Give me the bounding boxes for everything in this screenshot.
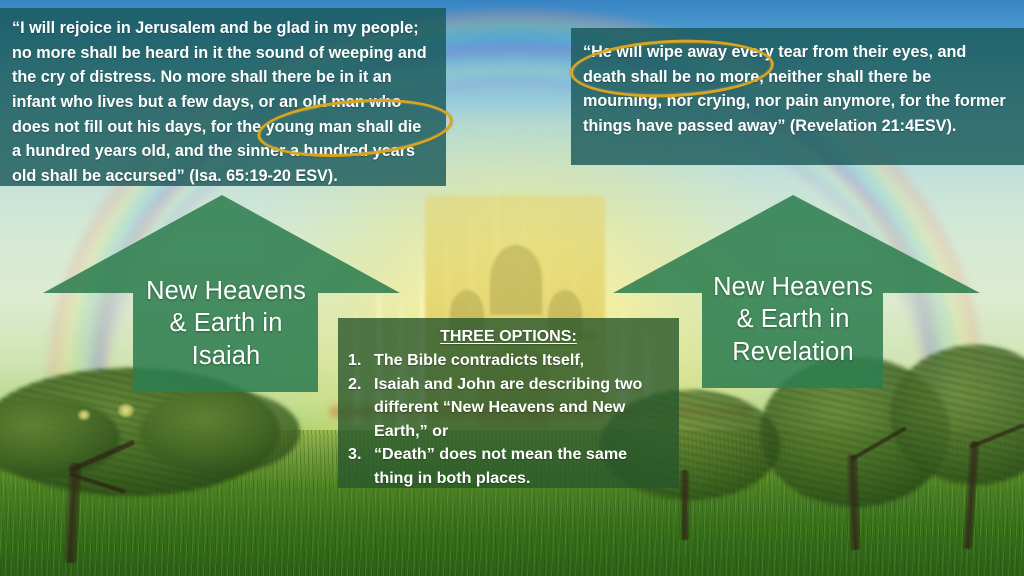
- option-2-number: 2.: [348, 373, 374, 396]
- option-1-text: The Bible contradicts Itself,: [374, 349, 669, 372]
- revelation-quote-text: “He will wipe away every tear from their…: [583, 43, 1006, 135]
- option-1-number: 1.: [348, 349, 374, 372]
- slide-canvas: New Heavens & Earth in Isaiah New Heaven…: [0, 0, 1024, 576]
- isaiah-quote-text: “I will rejoice in Jerusalem and be glad…: [12, 19, 427, 185]
- option-item: 2. Isaiah and John are describing two di…: [348, 373, 669, 443]
- option-item: 3. “Death” does not mean the same thing …: [348, 443, 669, 490]
- option-item: 1. The Bible contradicts Itself,: [348, 349, 669, 372]
- three-options-box: THREE OPTIONS: 1. The Bible contradicts …: [338, 318, 679, 488]
- option-2-text: Isaiah and John are describing two diffe…: [374, 373, 669, 443]
- revelation-quote-box: “He will wipe away every tear from their…: [571, 28, 1024, 165]
- three-options-title: THREE OPTIONS:: [348, 325, 669, 348]
- option-3-text: “Death” does not mean the same thing in …: [374, 443, 669, 490]
- option-3-number: 3.: [348, 443, 374, 466]
- isaiah-quote-box: “I will rejoice in Jerusalem and be glad…: [0, 8, 446, 186]
